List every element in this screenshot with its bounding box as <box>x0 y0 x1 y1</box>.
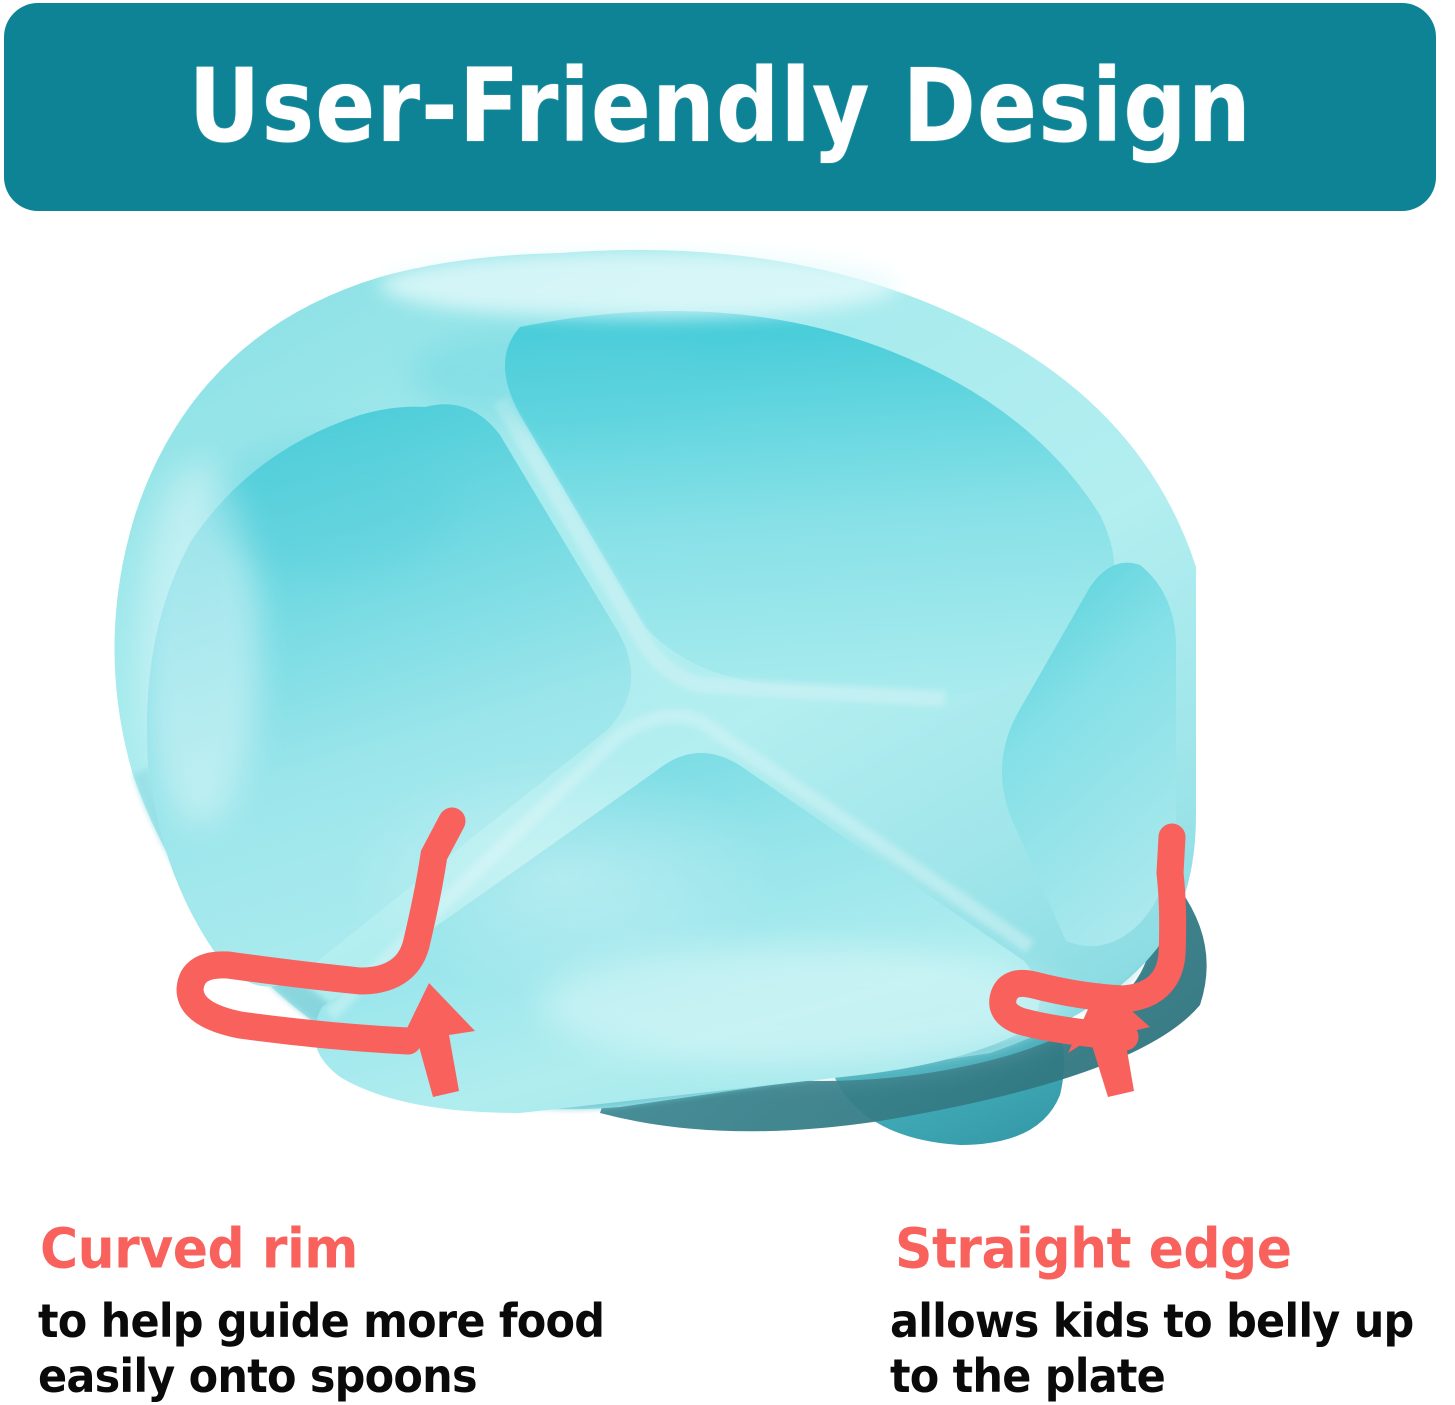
product-image-stage <box>0 215 1455 1215</box>
straight-edge-arrow <box>1003 837 1173 1097</box>
header-banner: User-Friendly Design <box>4 3 1436 211</box>
caption-right-body: allows kids to belly up to the plate <box>890 1295 1414 1405</box>
caption-left-body: to help guide more food easily onto spoo… <box>38 1295 604 1405</box>
page-title: User-Friendly Design <box>188 56 1251 157</box>
caption-right-heading: Straight edge <box>895 1222 1292 1277</box>
annotation-arrow-layer <box>0 215 1455 1215</box>
curved-rim-arrow <box>190 821 475 1097</box>
caption-left-heading: Curved rim <box>40 1222 358 1277</box>
